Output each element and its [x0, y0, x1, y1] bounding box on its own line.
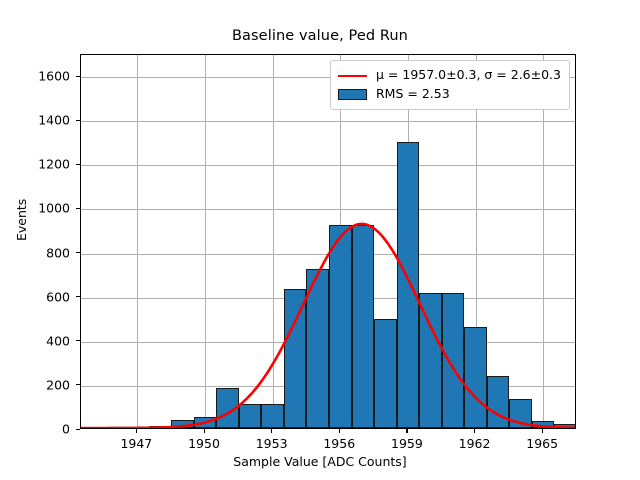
- y-tick-label: 400: [0, 333, 70, 348]
- plot-clip: [81, 55, 575, 428]
- histogram-bar: [149, 426, 172, 428]
- histogram-patch-swatch-icon: [338, 89, 367, 100]
- gridline-vertical: [273, 55, 274, 428]
- y-tick-mark: [76, 208, 80, 209]
- x-tick-label: 1947: [120, 436, 152, 451]
- figure-canvas: Baseline value, Ped Run μ = 1957.0±0.3, …: [0, 0, 640, 480]
- histogram-bar: [487, 376, 510, 428]
- histogram-bar: [554, 424, 575, 428]
- gridline-vertical: [205, 55, 206, 428]
- y-tick-mark: [76, 340, 80, 341]
- x-tick-mark: [136, 429, 137, 433]
- histogram-bar: [239, 404, 262, 428]
- y-tick-label: 600: [0, 289, 70, 304]
- gridline-vertical: [137, 55, 138, 428]
- y-tick-label: 1600: [0, 69, 70, 84]
- legend-label-rms: RMS = 2.53: [376, 88, 450, 101]
- x-axis-label: Sample Value [ADC Counts]: [0, 454, 640, 469]
- histogram-bar: [171, 420, 194, 428]
- y-tick-label: 0: [0, 422, 70, 437]
- y-tick-mark: [76, 384, 80, 385]
- y-tick-mark: [76, 164, 80, 165]
- legend: μ = 1957.0±0.3, σ = 2.6±0.3 RMS = 2.53: [330, 60, 570, 110]
- fit-line-swatch-icon: [338, 75, 367, 77]
- y-tick-mark: [76, 429, 80, 430]
- histogram-bar: [509, 399, 532, 428]
- gridline-horizontal: [81, 209, 575, 210]
- y-tick-mark: [76, 120, 80, 121]
- histogram-bar: [419, 293, 442, 428]
- histogram-bar: [464, 327, 487, 428]
- gridline-vertical: [543, 55, 544, 428]
- x-tick-mark: [271, 429, 272, 433]
- histogram-bar: [442, 293, 465, 428]
- x-tick-mark: [474, 429, 475, 433]
- x-tick-mark: [339, 429, 340, 433]
- y-tick-label: 1000: [0, 201, 70, 216]
- x-tick-label: 1953: [256, 436, 288, 451]
- y-axis-label: Events: [14, 199, 29, 241]
- y-tick-label: 800: [0, 245, 70, 260]
- histogram-bar: [284, 289, 307, 428]
- x-tick-label: 1950: [188, 436, 220, 451]
- x-tick-label: 1959: [391, 436, 423, 451]
- y-tick-mark: [76, 252, 80, 253]
- x-tick-label: 1962: [459, 436, 491, 451]
- x-tick-mark: [406, 429, 407, 433]
- y-tick-mark: [76, 296, 80, 297]
- gridline-horizontal: [81, 254, 575, 255]
- y-tick-label: 1400: [0, 113, 70, 128]
- histogram-bar: [194, 417, 217, 428]
- legend-item-histogram: RMS = 2.53: [338, 85, 561, 104]
- x-tick-label: 1965: [526, 436, 558, 451]
- gridline-horizontal: [81, 121, 575, 122]
- x-tick-label: 1956: [323, 436, 355, 451]
- histogram-bar: [261, 404, 284, 428]
- plot-area: μ = 1957.0±0.3, σ = 2.6±0.3 RMS = 2.53: [80, 54, 576, 429]
- legend-label-fit: μ = 1957.0±0.3, σ = 2.6±0.3: [376, 69, 561, 82]
- gridline-horizontal: [81, 165, 575, 166]
- histogram-bar: [329, 225, 352, 428]
- x-tick-mark: [542, 429, 543, 433]
- page-title: Baseline value, Ped Run: [0, 28, 640, 44]
- histogram-bar: [397, 142, 420, 428]
- histogram-bar: [216, 388, 239, 428]
- histogram-bar: [352, 225, 375, 428]
- y-tick-mark: [76, 76, 80, 77]
- legend-item-fit: μ = 1957.0±0.3, σ = 2.6±0.3: [338, 66, 561, 85]
- histogram-bar: [306, 269, 329, 428]
- y-tick-label: 200: [0, 377, 70, 392]
- histogram-bar: [374, 319, 397, 428]
- y-tick-label: 1200: [0, 157, 70, 172]
- histogram-bar: [532, 421, 555, 428]
- x-tick-mark: [204, 429, 205, 433]
